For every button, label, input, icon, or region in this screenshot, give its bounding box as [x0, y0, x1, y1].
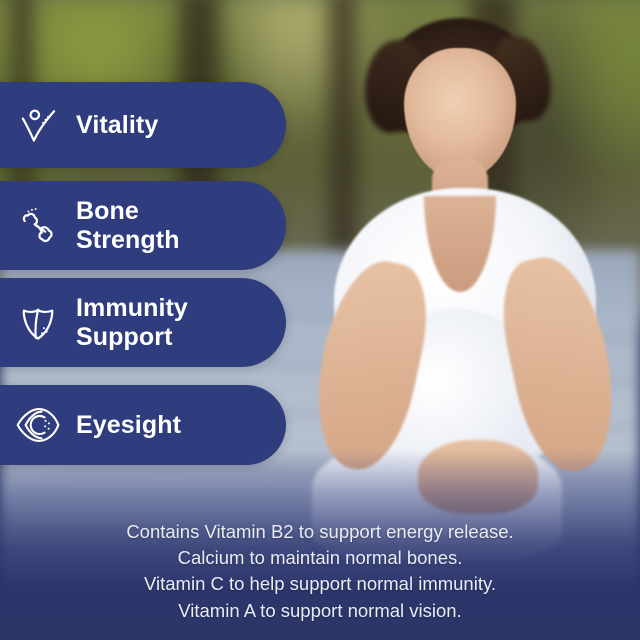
- benefit-label: Vitality: [76, 111, 174, 140]
- benefit-pill-eyesight[interactable]: Eyesight: [0, 385, 286, 465]
- benefit-pill-vitality[interactable]: Vitality: [0, 82, 286, 168]
- claim-line: Vitamin A to support normal vision.: [0, 598, 640, 624]
- benefit-label: Immunity Support: [76, 294, 204, 351]
- product-benefits-ad: Vitality Bone Strength: [0, 0, 640, 640]
- benefit-pill-immunity-support[interactable]: Immunity Support: [0, 278, 286, 367]
- eye-icon: [0, 402, 76, 448]
- vitality-person-icon: [0, 103, 76, 147]
- claims-text-block: Contains Vitamin B2 to support energy re…: [0, 519, 640, 624]
- shield-icon: [0, 301, 76, 345]
- claim-line: Contains Vitamin B2 to support energy re…: [0, 519, 640, 545]
- claim-line: Calcium to maintain normal bones.: [0, 545, 640, 571]
- claim-line: Vitamin C to help support normal immunit…: [0, 571, 640, 597]
- benefit-label: Bone Strength: [76, 197, 196, 254]
- bone-joint-icon: [0, 204, 76, 248]
- benefit-pill-bone-strength[interactable]: Bone Strength: [0, 181, 286, 270]
- benefit-label: Eyesight: [76, 411, 197, 440]
